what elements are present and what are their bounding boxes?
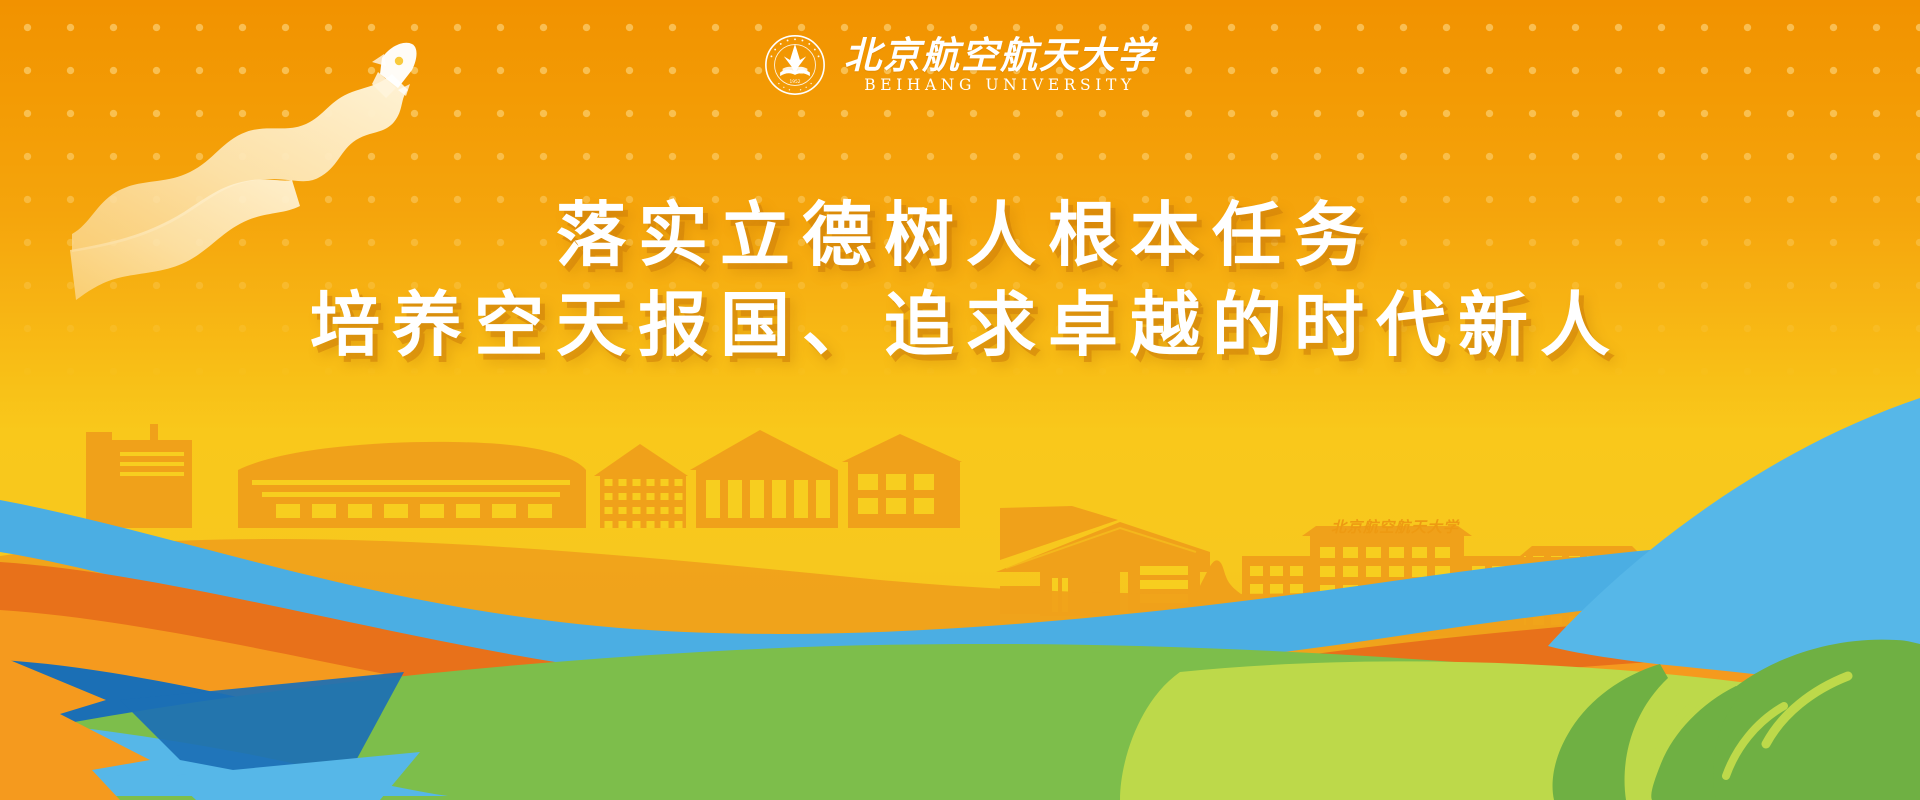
leaf-layer [0, 0, 1920, 800]
university-logo-block: 1952 北京航空航天大学 BEIHANG UNIVERSITY [0, 34, 1920, 96]
beihang-seal-icon: 1952 [764, 34, 826, 96]
wordmark-english: BEIHANG UNIVERSITY [864, 76, 1135, 94]
leaf-icon [1553, 640, 1920, 800]
wordmark-chinese: 北京航空航天大学 [844, 37, 1156, 74]
university-wordmark: 北京航空航天大学 BEIHANG UNIVERSITY [844, 37, 1156, 94]
svg-text:1952: 1952 [789, 79, 800, 85]
banner-root: 1952 北京航空航天大学 BEIHANG UNIVERSITY 落实立德树人根… [0, 0, 1920, 800]
